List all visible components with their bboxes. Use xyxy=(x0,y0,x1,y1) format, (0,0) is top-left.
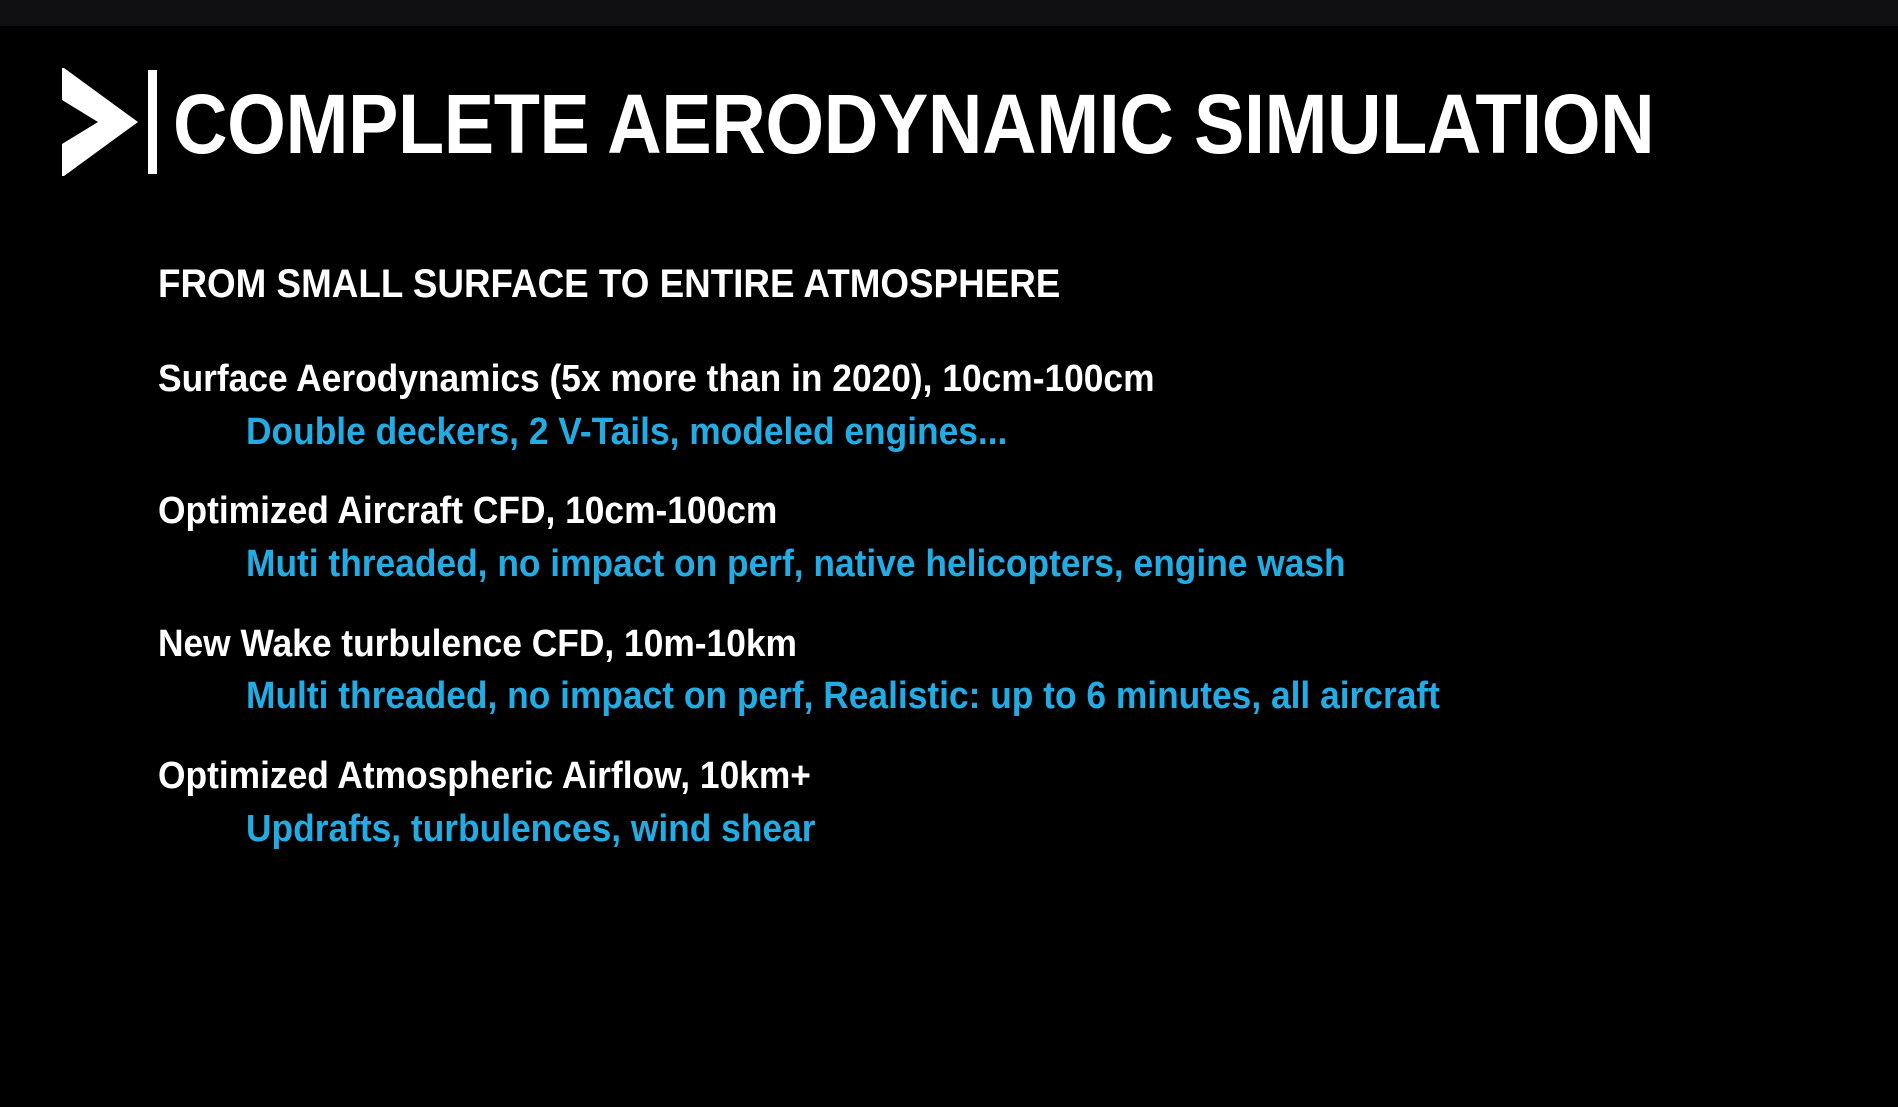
item-heading: New Wake turbulence CFD, 10m-10km xyxy=(158,623,1739,667)
item-detail: Muti threaded, no impact on perf, native… xyxy=(246,543,1745,587)
top-edge-band xyxy=(0,0,1898,26)
list-item: Optimized Atmospheric Airflow, 10km+ Upd… xyxy=(158,755,1858,851)
item-detail: Double deckers, 2 V-Tails, modeled engin… xyxy=(246,411,1745,455)
chevron-right-icon xyxy=(58,68,138,176)
item-heading: Optimized Aircraft CFD, 10cm-100cm xyxy=(158,490,1739,534)
list-item: Surface Aerodynamics (5x more than in 20… xyxy=(158,358,1858,454)
item-detail: Multi threaded, no impact on perf, Reali… xyxy=(246,675,1745,719)
slide-subtitle: FROM SMALL SURFACE TO ENTIRE ATMOSPHERE xyxy=(158,262,1722,306)
item-heading: Optimized Atmospheric Airflow, 10km+ xyxy=(158,755,1739,799)
slide-body: FROM SMALL SURFACE TO ENTIRE ATMOSPHERE … xyxy=(158,262,1858,852)
vertical-bar-icon xyxy=(148,70,157,174)
item-heading: Surface Aerodynamics (5x more than in 20… xyxy=(158,358,1739,402)
page-title: COMPLETE AERODYNAMIC SIMULATION xyxy=(173,82,1654,166)
list-item: Optimized Aircraft CFD, 10cm-100cm Muti … xyxy=(158,490,1858,586)
presentation-slide: COMPLETE AERODYNAMIC SIMULATION FROM SMA… xyxy=(0,0,1898,1107)
slide-header: COMPLETE AERODYNAMIC SIMULATION xyxy=(58,62,1819,182)
item-detail: Updrafts, turbulences, wind shear xyxy=(246,808,1745,852)
list-item: New Wake turbulence CFD, 10m-10km Multi … xyxy=(158,623,1858,719)
